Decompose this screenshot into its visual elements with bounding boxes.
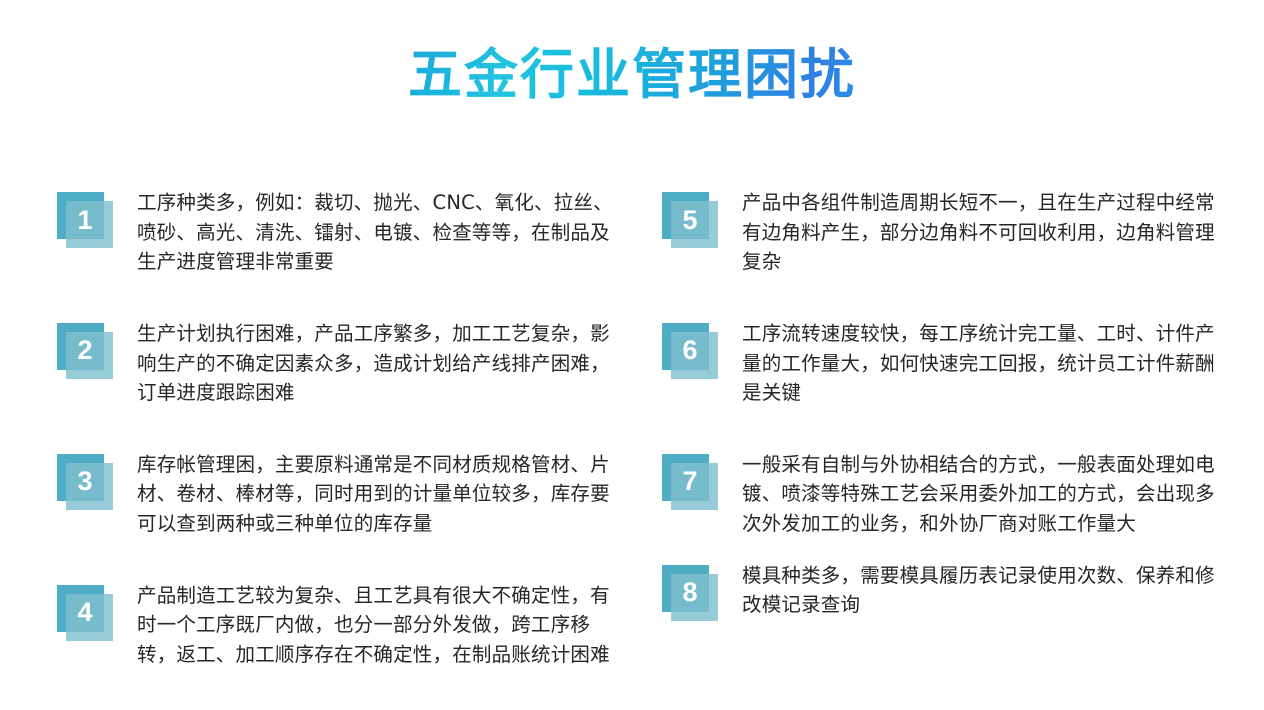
badge-number: 1: [57, 192, 113, 248]
page-title: 五金行业管理困扰: [408, 44, 856, 106]
list-item-text: 工序流转速度较快，每工序统计完工量、工时、计件产量的工作量大，如何快速完工回报，…: [742, 319, 1224, 408]
list-item: 5 产品中各组件制造周期长短不一，且在生产过程中经常有边角料产生，部分边角料不可…: [662, 188, 1224, 277]
badge-number: 5: [662, 192, 718, 248]
list-item: 6 工序流转速度较快，每工序统计完工量、工时、计件产量的工作量大，如何快速完工回…: [662, 319, 1224, 408]
badge-number: 2: [57, 323, 113, 379]
slide-root: 五金行业管理困扰 1 工序种类多，例如：裁切、抛光、CNC、氧化、拉丝、喷砂、高…: [0, 0, 1264, 710]
list-item: 7 一般采有自制与外协相结合的方式，一般表面处理如电镀、喷漆等特殊工艺会采用委外…: [662, 450, 1224, 539]
content-columns: 1 工序种类多，例如：裁切、抛光、CNC、氧化、拉丝、喷砂、高光、清洗、镭射、电…: [0, 188, 1264, 670]
number-badge-4: 4: [57, 585, 115, 643]
badge-number: 7: [662, 454, 718, 510]
badge-number: 4: [57, 585, 113, 641]
number-badge-5: 5: [662, 192, 720, 250]
number-badge-6: 6: [662, 323, 720, 381]
badge-number: 6: [662, 323, 718, 379]
number-badge-2: 2: [57, 323, 115, 381]
slide-title-container: 五金行业管理困扰: [0, 44, 1264, 106]
badge-number: 8: [662, 565, 718, 621]
list-item-text: 模具种类多，需要模具履历表记录使用次数、保养和修改模记录查询: [742, 561, 1224, 620]
list-item-text: 一般采有自制与外协相结合的方式，一般表面处理如电镀、喷漆等特殊工艺会采用委外加工…: [742, 450, 1224, 539]
right-column: 5 产品中各组件制造周期长短不一，且在生产过程中经常有边角料产生，部分边角料不可…: [0, 188, 1264, 670]
list-item: 8 模具种类多，需要模具履历表记录使用次数、保养和修改模记录查询: [662, 561, 1224, 623]
number-badge-3: 3: [57, 454, 115, 512]
number-badge-7: 7: [662, 454, 720, 512]
list-item-text: 产品中各组件制造周期长短不一，且在生产过程中经常有边角料产生，部分边角料不可回收…: [742, 188, 1224, 277]
badge-number: 3: [57, 454, 113, 510]
number-badge-8: 8: [662, 565, 720, 623]
number-badge-1: 1: [57, 192, 115, 250]
